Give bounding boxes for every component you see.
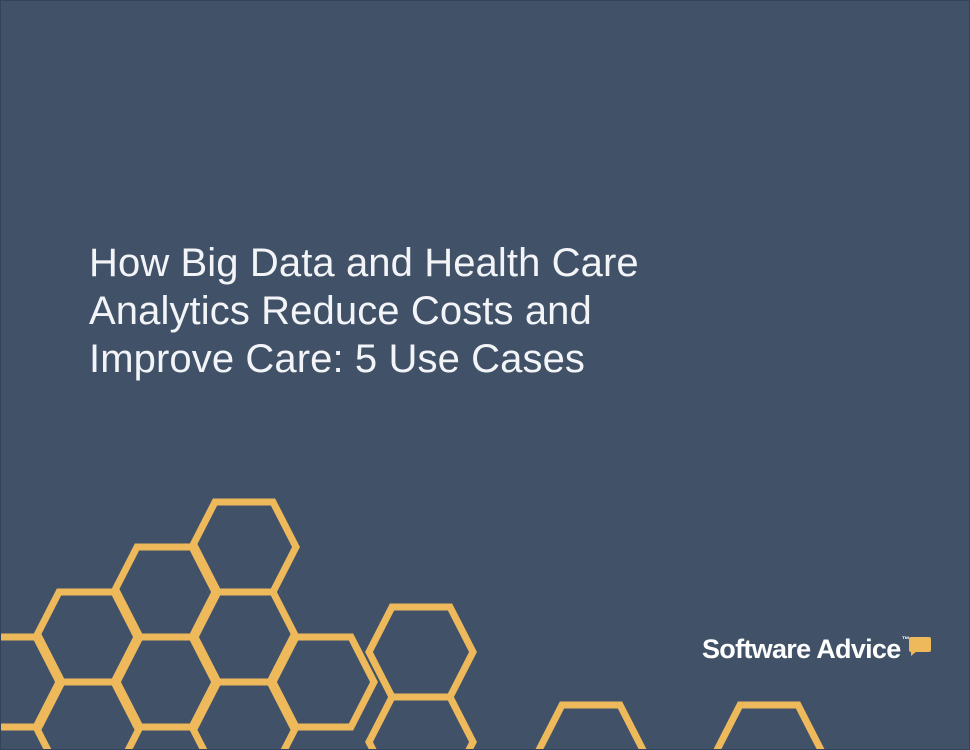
hexagon: [36, 592, 140, 682]
page-title: How Big Data and Health Care Analytics R…: [89, 239, 789, 383]
logo-wordmark: Software Advice: [702, 634, 901, 664]
hexagon: [114, 547, 218, 637]
hexagon: [369, 697, 473, 750]
hexagon: [717, 705, 821, 750]
title-line-1: How Big Data and Health Care: [89, 239, 789, 287]
title-line-3: Improve Care: 5 Use Cases: [89, 335, 789, 383]
speech-bubble-body: [909, 637, 931, 652]
cover-slide: How Big Data and Health Care Analytics R…: [0, 0, 970, 750]
hexagon: [539, 705, 643, 750]
hexagon: [192, 502, 296, 592]
hexagon: [192, 592, 296, 682]
speech-bubble-icon: [909, 637, 931, 654]
hexagon: [1, 637, 62, 727]
title-line-2: Analytics Reduce Costs and: [89, 287, 789, 335]
hexagon-group: [1, 502, 821, 750]
hexagon: [270, 637, 374, 727]
hexagon: [369, 607, 473, 697]
hexagon: [114, 637, 218, 727]
software-advice-logo: Software Advice ™: [702, 634, 931, 664]
hexagon: [192, 682, 296, 750]
hexagon: [36, 682, 140, 750]
speech-bubble-tail: [911, 651, 917, 656]
